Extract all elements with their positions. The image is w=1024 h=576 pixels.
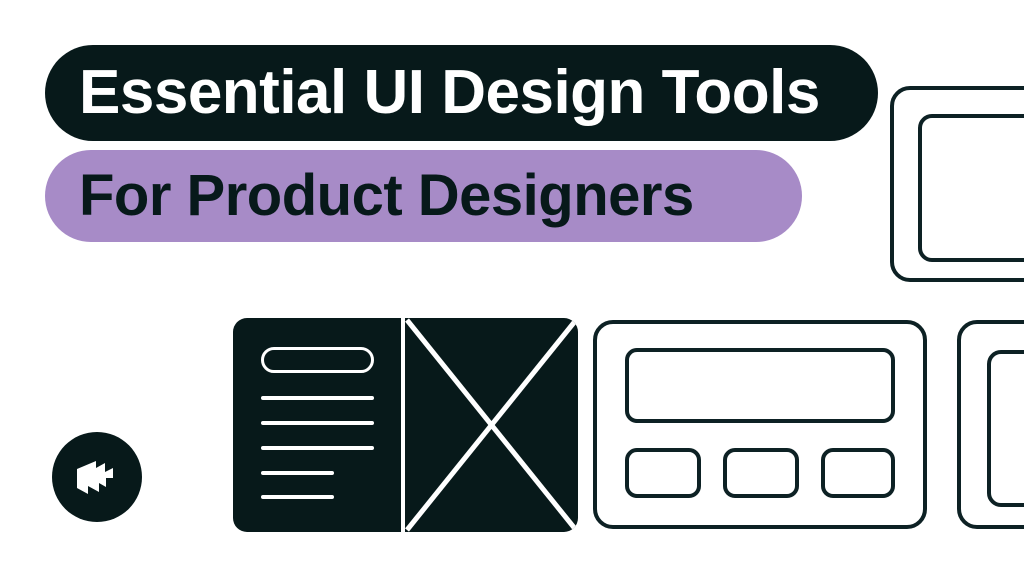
content-line (261, 495, 334, 499)
button-placeholder (723, 448, 799, 498)
poster-canvas: Essential UI Design Tools For Product De… (0, 0, 1024, 576)
content-line (261, 471, 334, 475)
hero-block (625, 348, 895, 423)
logo-badge[interactable] (52, 432, 142, 522)
button-placeholder (625, 448, 701, 498)
nested-frame-wireframe-bottom-right (957, 320, 1024, 529)
content-line (261, 396, 374, 400)
outlined-layout-wireframe (593, 320, 927, 529)
abstract-mark-icon (74, 456, 120, 498)
content-line (261, 446, 374, 450)
headline-line-1: Essential UI Design Tools (79, 62, 820, 124)
nested-frame-wireframe-top-right (890, 86, 1024, 282)
image-placeholder-wireframe (405, 318, 578, 532)
headline-line-2: For Product Designers (79, 167, 694, 225)
nested-frame-inner (987, 350, 1024, 507)
content-line (261, 421, 374, 425)
headline-pill-primary: Essential UI Design Tools (45, 45, 878, 141)
button-placeholder (821, 448, 895, 498)
dark-sidebar-wireframe (233, 318, 401, 532)
headline-pill-secondary: For Product Designers (45, 150, 802, 242)
search-field-placeholder (261, 347, 374, 373)
nested-frame-inner (918, 114, 1024, 262)
